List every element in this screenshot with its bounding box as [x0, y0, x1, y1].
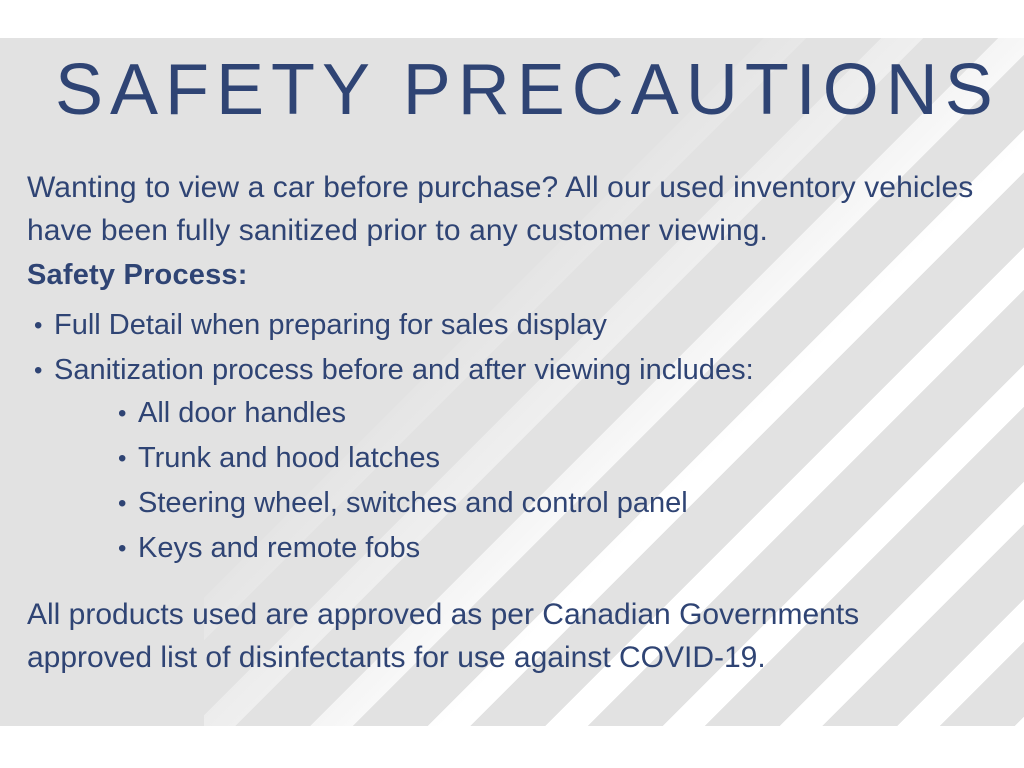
- sanitization-sub-list: •All door handles •Trunk and hood latche…: [118, 391, 688, 571]
- list-item: •Keys and remote fobs: [118, 526, 688, 571]
- list-item-label: Keys and remote fobs: [138, 532, 420, 564]
- list-item: •Steering wheel, switches and control pa…: [118, 481, 688, 526]
- list-item-label: Trunk and hood latches: [138, 442, 440, 474]
- list-item-label: Steering wheel, switches and control pan…: [138, 487, 688, 519]
- intro-paragraph: Wanting to view a car before purchase? A…: [27, 166, 992, 252]
- page-title: SAFETY PRECAUTIONS: [55, 54, 1000, 126]
- poster-content: SAFETY PRECAUTIONS Wanting to view a car…: [0, 38, 1024, 726]
- safety-process-heading: Safety Process:: [27, 259, 248, 292]
- list-item: •Sanitization process before and after v…: [34, 348, 754, 393]
- bullet-icon: •: [34, 349, 54, 393]
- safety-process-list: •Full Detail when preparing for sales di…: [34, 303, 754, 393]
- bullet-icon: •: [118, 481, 138, 526]
- list-item-label: Full Detail when preparing for sales dis…: [54, 309, 607, 341]
- bullet-icon: •: [34, 304, 54, 348]
- safety-precautions-poster: SAFETY PRECAUTIONS Wanting to view a car…: [0, 38, 1024, 726]
- list-item: •All door handles: [118, 391, 688, 436]
- bullet-icon: •: [118, 436, 138, 481]
- bullet-icon: •: [118, 391, 138, 436]
- list-item-label: Sanitization process before and after vi…: [54, 354, 754, 386]
- closing-paragraph: All products used are approved as per Ca…: [27, 593, 987, 679]
- list-item-label: All door handles: [138, 397, 346, 429]
- list-item: •Full Detail when preparing for sales di…: [34, 303, 754, 348]
- list-item: •Trunk and hood latches: [118, 436, 688, 481]
- bullet-icon: •: [118, 526, 138, 571]
